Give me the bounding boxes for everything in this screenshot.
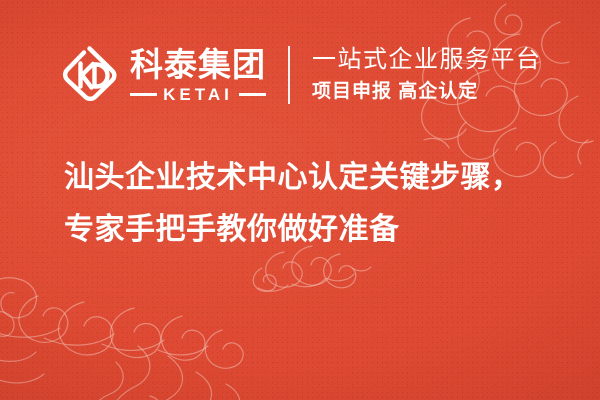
brand-name-en: KETAI <box>157 86 239 103</box>
headline-line-1: 汕头企业技术中心认定关键步骤， <box>64 152 564 204</box>
logo-wordmark: 科泰集团 KETAI <box>130 48 266 103</box>
brand-name-en-row: KETAI <box>130 86 266 103</box>
tagline-block: 一站式企业服务平台 项目申报 高企认定 <box>312 47 542 103</box>
promo-banner: 科泰集团 KETAI 一站式企业服务平台 项目申报 高企认定 汕头企业技术中心认… <box>0 0 600 400</box>
brand-header: 科泰集团 KETAI 一站式企业服务平台 项目申报 高企认定 <box>58 38 542 112</box>
brand-name-cn: 科泰集团 <box>130 48 266 81</box>
ketai-logo-icon <box>58 44 120 106</box>
tagline-primary: 一站式企业服务平台 <box>312 47 542 73</box>
tagline-secondary: 项目申报 高企认定 <box>312 82 542 103</box>
headline-block: 汕头企业技术中心认定关键步骤， 专家手把手教你做好准备 <box>64 152 564 256</box>
wordmark-rule-right <box>239 93 266 96</box>
wordmark-rule-left <box>130 93 157 96</box>
header-divider <box>288 46 290 104</box>
headline-line-2: 专家手把手教你做好准备 <box>64 204 564 256</box>
